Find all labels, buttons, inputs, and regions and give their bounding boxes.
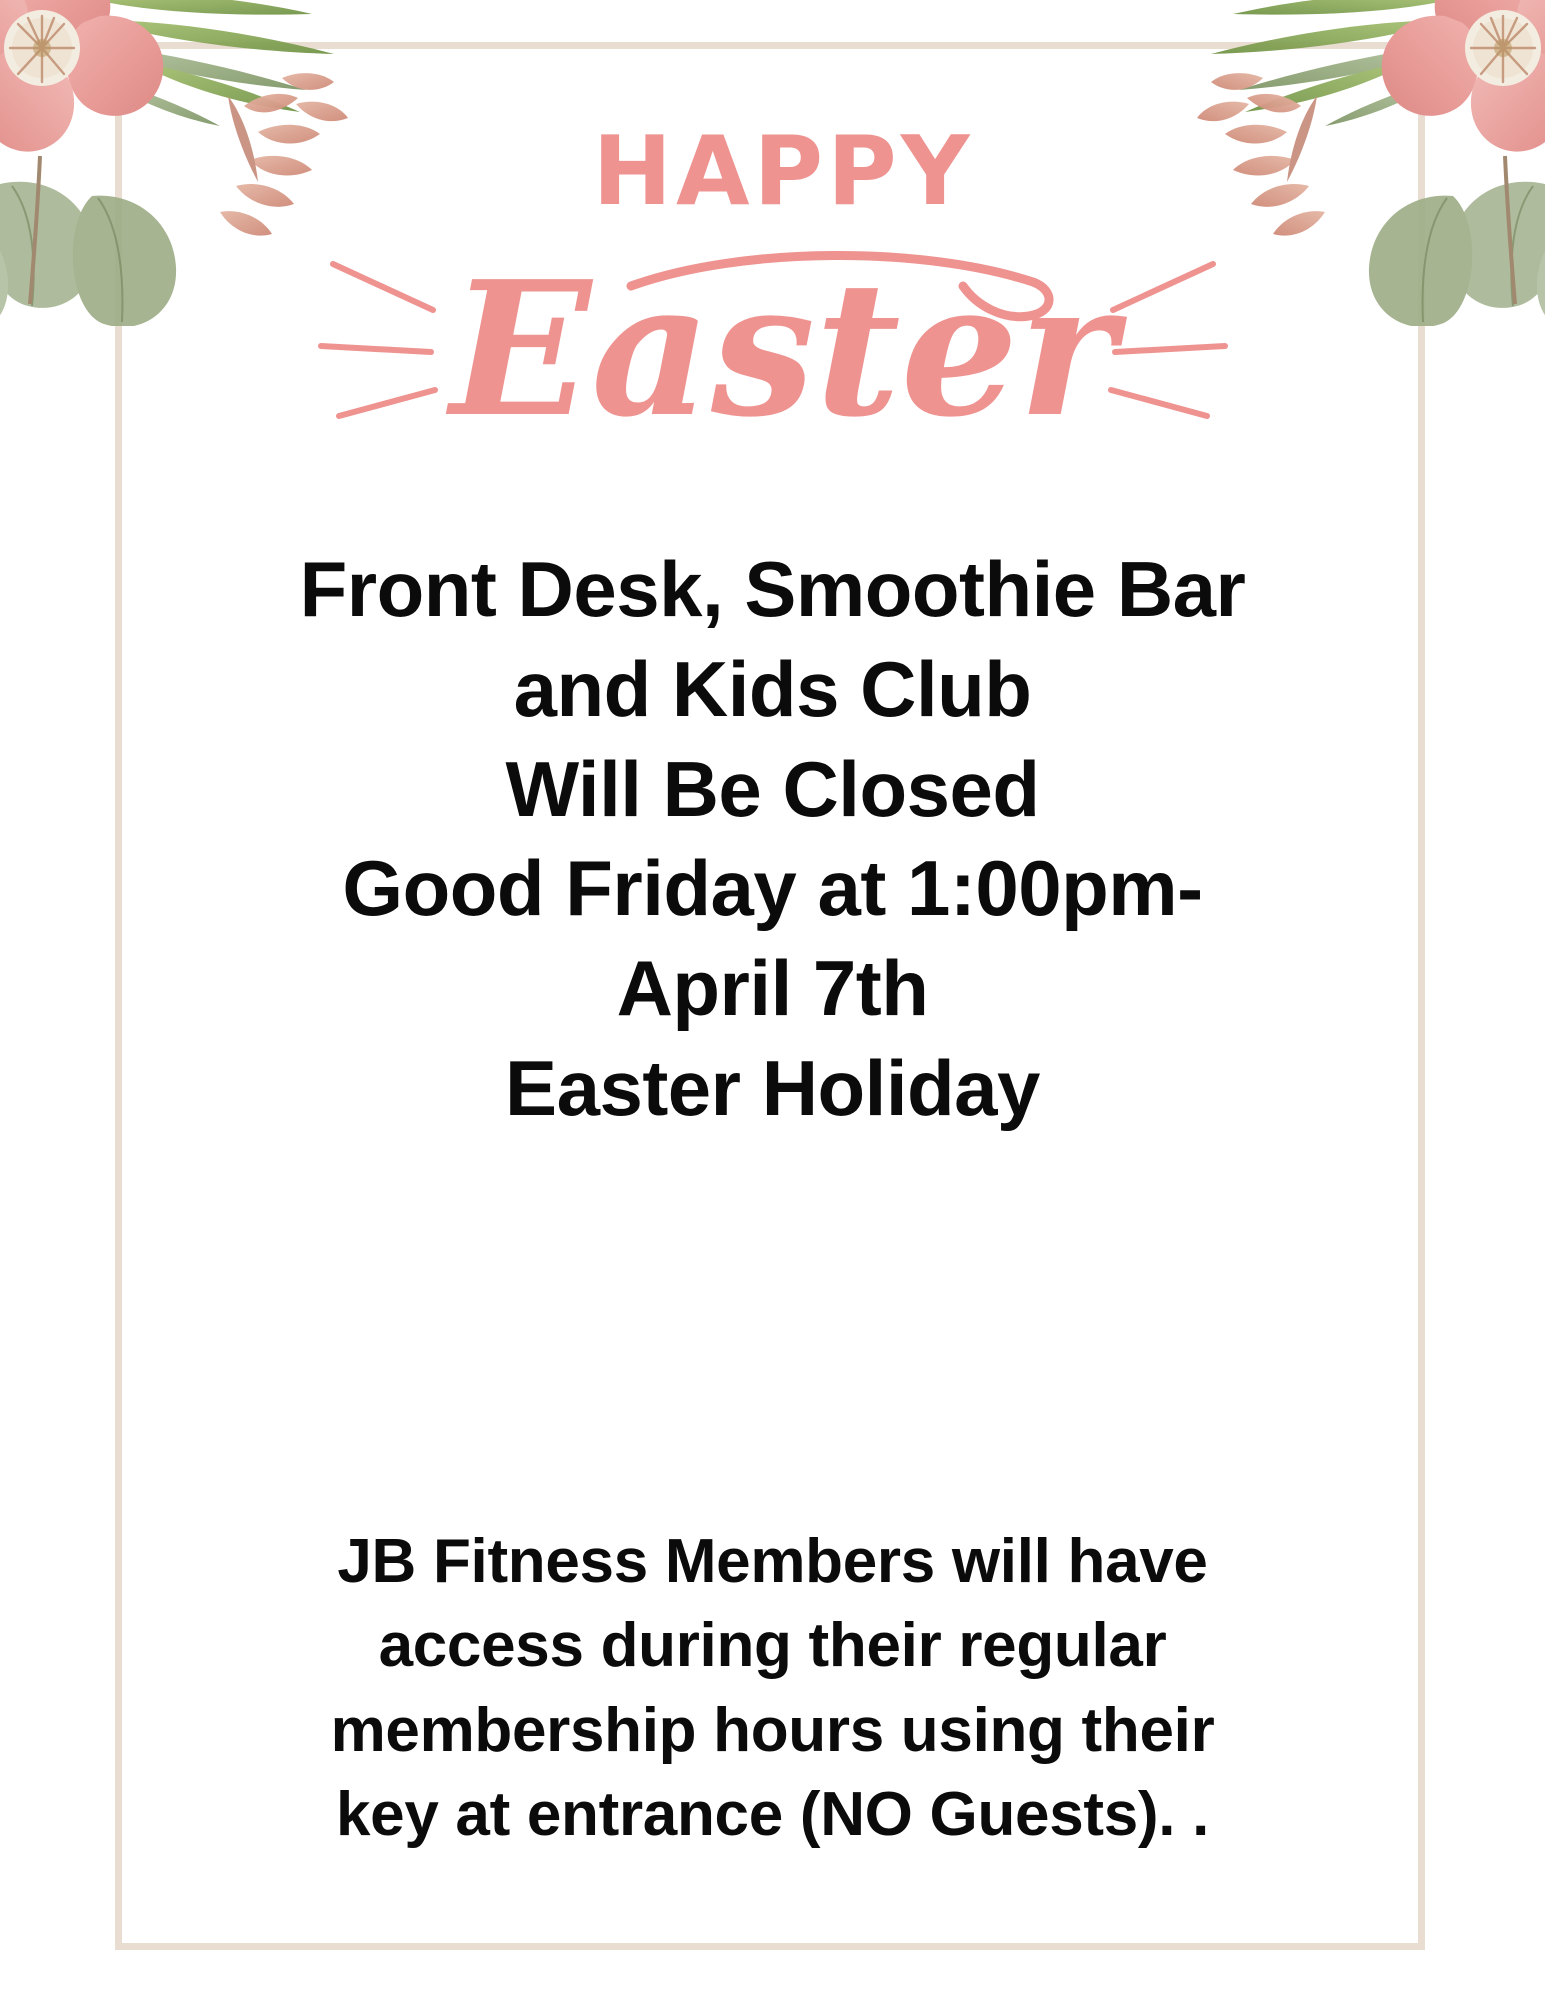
announcement-line: Front Desk, Smoothie Bar [150,540,1395,640]
announcement-line: Easter Holiday [150,1039,1395,1139]
announcement-line: and Kids Club [150,640,1395,740]
sunburst-rays-right-icon [1111,264,1225,416]
announcement-block: Front Desk, Smoothie Bar and Kids Club W… [150,540,1395,1139]
easter-closure-poster: HAPPY Easter Front Desk, Smoothie Bar an… [0,0,1545,2000]
announcement-line: April 7th [150,939,1395,1039]
member-note-line: key at entrance (NO Guests). . [175,1773,1370,1857]
announcement-line: Will Be Closed [150,740,1395,840]
headline-happy-text: HAPPY [592,117,973,227]
announcement-text: Front Desk, Smoothie Bar and Kids Club W… [150,540,1395,1139]
headline-lockup: HAPPY Easter [0,96,1545,466]
announcement-line: Good Friday at 1:00pm- [150,839,1395,939]
member-note-block: JB Fitness Members will have access duri… [175,1520,1370,1857]
sunburst-rays-left-icon [321,264,435,416]
member-note-text: JB Fitness Members will have access duri… [175,1520,1370,1857]
member-note-line: membership hours using their [175,1689,1370,1773]
member-note-line: JB Fitness Members will have [175,1520,1370,1604]
headline-easter-text: Easter [445,240,1127,458]
member-note-line: access during their regular [175,1604,1370,1688]
